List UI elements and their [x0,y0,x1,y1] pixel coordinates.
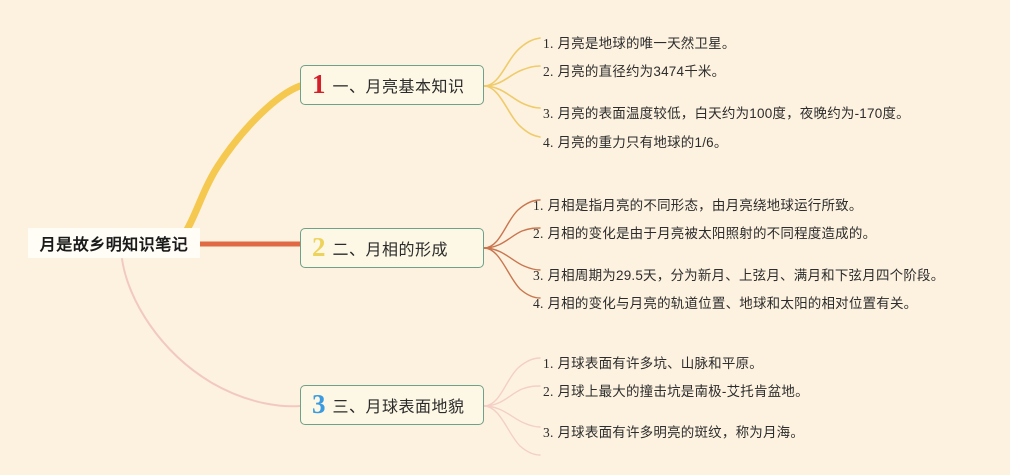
leaf-text: 月球表面有许多明亮的斑纹，称为月海。 [557,425,804,440]
mindmap-canvas[interactable]: 月是故乡明知识笔记 1 一、月亮基本知识 1. 月亮是地球的唯一天然卫星。 2.… [0,0,1010,475]
leaf-text: 月相的变化与月亮的轨道位置、地球和太阳的相对位置有关。 [547,296,917,311]
leaf-text: 月亮是地球的唯一天然卫星。 [557,36,735,51]
branch-node-2[interactable]: 2 二、月相的形成 [300,228,484,268]
leaf-item[interactable]: 2. 月亮的直径约为3474千米。 [543,60,725,80]
leaf-index: 2. [543,384,554,399]
edge-group-branch-3 [484,358,540,455]
leaf-item[interactable]: 3. 月球表面有许多明亮的斑纹，称为月海。 [543,421,804,441]
leaf-index: 3. [543,425,554,440]
branch-label-3: 三、月球表面地貌 [333,393,465,417]
edge-root-to-branch-3 [122,259,300,406]
leaf-text: 月亮的直径约为3474千米。 [557,64,725,79]
leaf-text: 月相的变化是由于月亮被太阳照射的不同程度造成的。 [547,226,876,241]
branch-label-2: 二、月相的形成 [333,236,449,260]
branch-number-2: 2 [312,234,326,261]
edge-group-branch-2 [484,200,540,298]
leaf-item[interactable]: 4. 月亮的重力只有地球的1/6。 [543,131,728,151]
leaf-text: 月亮的表面温度较低，白天约为100度，夜晚约为-170度。 [557,106,909,121]
leaf-index: 3. [533,268,544,283]
root-node-label: 月是故乡明知识笔记 [40,231,189,255]
leaf-item[interactable]: 2. 月球上最大的撞击坑是南极-艾托肯盆地。 [543,380,809,400]
leaf-item[interactable]: 1. 月球表面有许多坑、山脉和平原。 [543,352,763,372]
leaf-index: 3. [543,106,554,121]
leaf-item[interactable]: 1. 月亮是地球的唯一天然卫星。 [543,32,736,52]
branch-label-1: 一、月亮基本知识 [333,73,465,97]
leaf-text: 月球表面有许多坑、山脉和平原。 [557,356,763,371]
branch-number-1: 1 [312,71,326,98]
leaf-index: 1. [543,356,554,371]
leaf-item[interactable]: 3. 月相周期为29.5天，分为新月、上弦月、满月和下弦月四个阶段。 [533,264,944,284]
leaf-item[interactable]: 3. 月亮的表面温度较低，白天约为100度，夜晚约为-170度。 [543,102,910,122]
leaf-item[interactable]: 2. 月相的变化是由于月亮被太阳照射的不同程度造成的。 [533,222,876,242]
leaf-index: 1. [543,36,554,51]
leaf-text: 月球上最大的撞击坑是南极-艾托肯盆地。 [557,384,808,399]
leaf-item[interactable]: 4. 月相的变化与月亮的轨道位置、地球和太阳的相对位置有关。 [533,292,917,312]
leaf-item[interactable]: 1. 月相是指月亮的不同形态，由月亮绕地球运行所致。 [533,194,863,214]
leaf-text: 月相周期为29.5天，分为新月、上弦月、满月和下弦月四个阶段。 [547,268,944,283]
root-node[interactable]: 月是故乡明知识笔记 [28,228,200,258]
leaf-index: 1. [533,198,544,213]
edge-root-to-branch-1 [170,86,300,243]
leaf-index: 4. [543,135,554,150]
branch-node-1[interactable]: 1 一、月亮基本知识 [300,65,484,105]
leaf-index: 2. [533,226,544,241]
branch-node-3[interactable]: 3 三、月球表面地貌 [300,385,484,425]
branch-number-3: 3 [312,391,326,418]
leaf-index: 2. [543,64,554,79]
edge-group-branch-1 [484,38,540,137]
leaf-text: 月亮的重力只有地球的1/6。 [557,135,727,150]
leaf-index: 4. [533,296,544,311]
leaf-text: 月相是指月亮的不同形态，由月亮绕地球运行所致。 [547,198,862,213]
